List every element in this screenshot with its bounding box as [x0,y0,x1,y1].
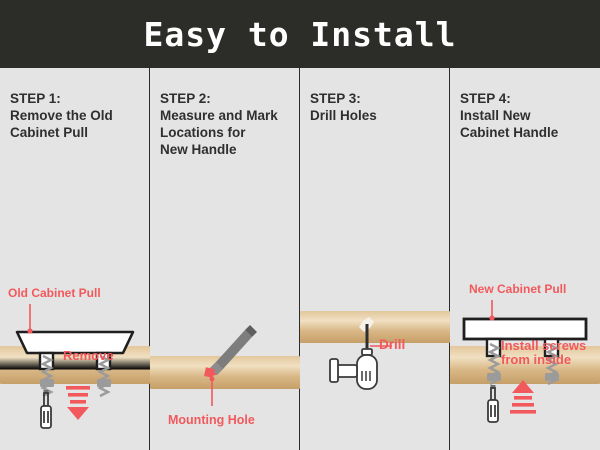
step-column-4: STEP 4: Install New Cabinet Handle [450,68,600,450]
drill-bit-icon [366,324,369,349]
header-bar: Easy to Install [0,0,600,68]
step-2-illustration [150,68,300,450]
step-3-part-label: Drill [379,338,405,352]
cabinet-pull-bar-icon [464,319,586,339]
up-arrow-icon [510,380,536,414]
page-title: Easy to Install [143,15,456,54]
step-column-2: STEP 2: Measure and Mark Locations for N… [150,68,300,450]
step-1-illustration [0,68,150,450]
step-4-illustration [450,68,600,450]
down-arrow-icon [66,386,90,420]
pointer-line [489,300,494,321]
step-1-action-label: Remove [63,349,114,363]
step-column-1: STEP 1: Remove the Old Cabinet Pull [0,68,150,450]
screwdriver-icon [488,385,498,422]
step-1-part-label: Old Cabinet Pull [8,286,101,300]
steps-container: STEP 1: Remove the Old Cabinet Pull [0,68,600,450]
step-4-part-label: New Cabinet Pull [469,282,566,296]
step-column-3: STEP 3: Drill Holes [300,68,450,450]
mark-x-icon [204,367,215,378]
step-3-illustration [300,68,450,450]
wood-bar-icon [300,311,450,343]
drill-icon [330,349,377,389]
step-2-part-label: Mounting Hole [168,413,255,427]
step-4-action-label: Install screws from inside [501,339,586,367]
pointer-line [27,304,32,334]
